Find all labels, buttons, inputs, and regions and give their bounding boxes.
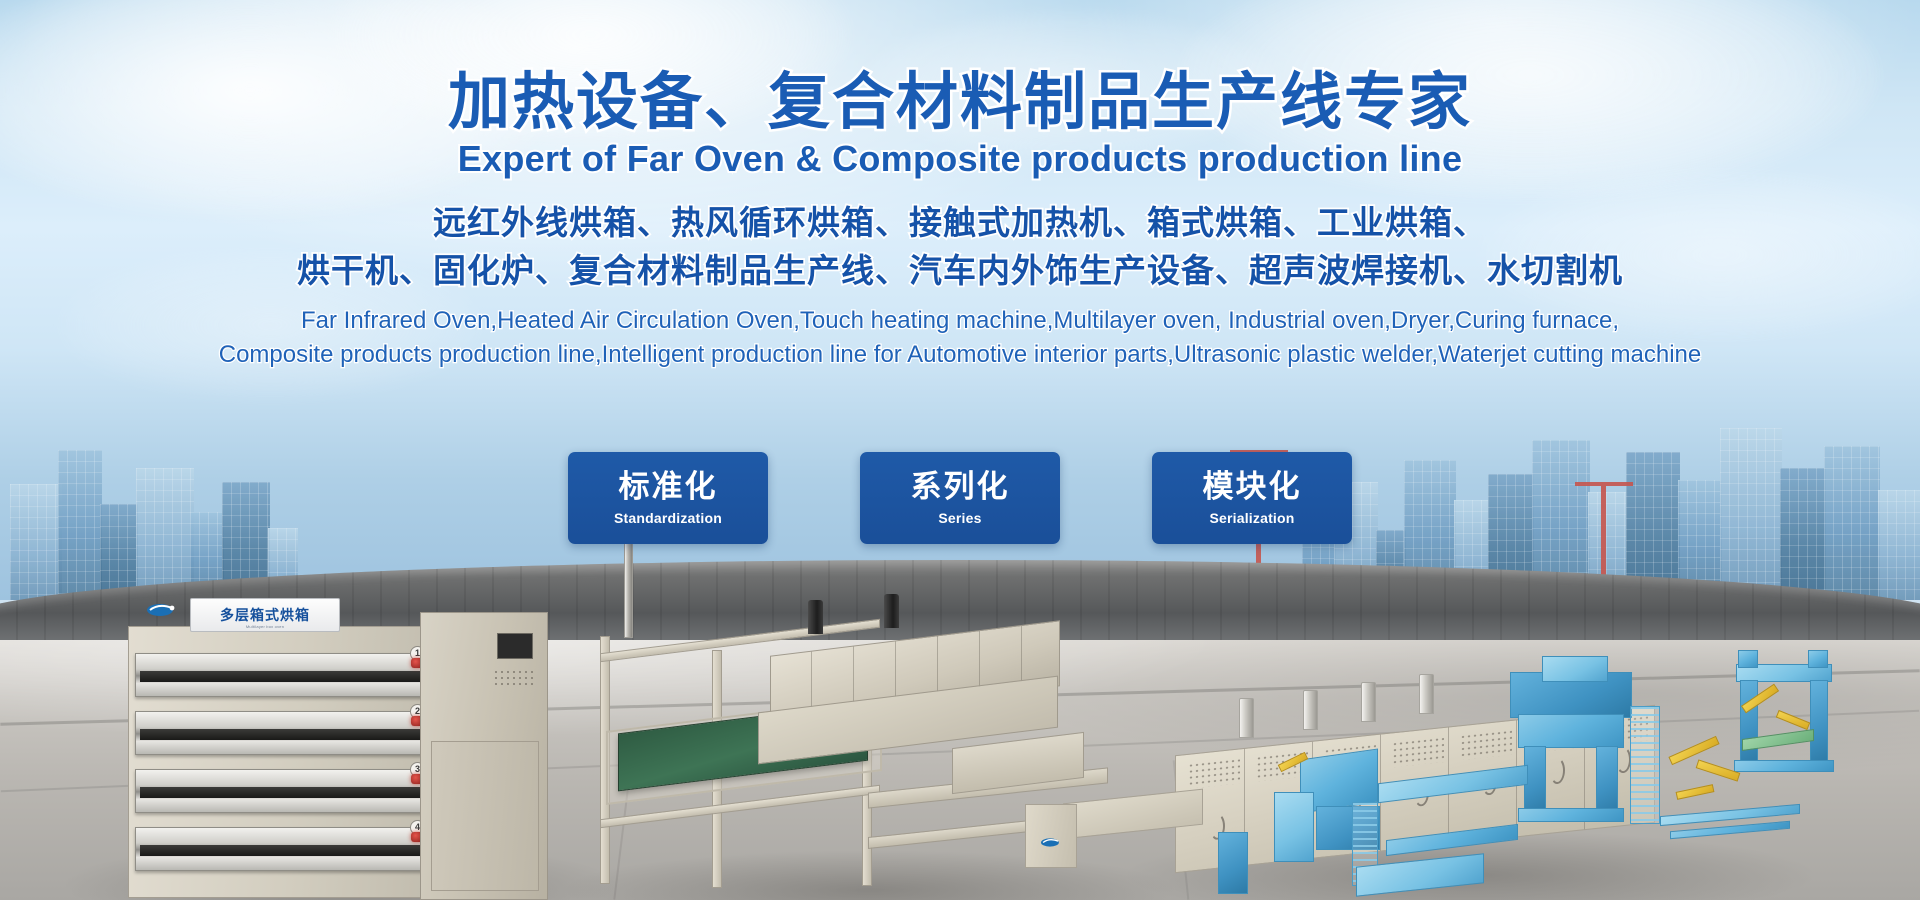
oven-tray (135, 711, 435, 755)
badge-standardization[interactable]: 标准化 Standardization (568, 452, 768, 544)
gantry-base (1734, 760, 1834, 772)
machine-multilayer-oven: 多层箱式烘箱 Multilayer box oven 1 2 3 4 (128, 612, 548, 900)
robot-arm (1676, 784, 1715, 800)
banner-subtitle-zh-line2: 烘干机、固化炉、复合材料制品生产线、汽车内外饰生产设备、超声波焊接机、水切割机 (0, 247, 1920, 295)
banner-subtitle-en-line1: Far Infrared Oven,Heated Air Circulation… (0, 304, 1920, 338)
exhaust-stack (1361, 682, 1376, 722)
badge-label-zh: 系列化 (911, 470, 1010, 505)
oven-nameplate-en: Multilayer box oven (246, 624, 284, 629)
transfer-rail (1378, 765, 1528, 803)
badge-series[interactable]: 系列化 Series (860, 452, 1060, 544)
gantry-post (1808, 650, 1828, 668)
badge-label-en: Serialization (1209, 510, 1294, 526)
press-leg (1596, 746, 1618, 814)
machine-blue-handling-unit (1260, 740, 1580, 900)
exhaust-stack (1303, 690, 1318, 730)
oven-tray (135, 827, 435, 871)
press-piston (884, 594, 899, 628)
robot-arm (1668, 736, 1719, 765)
banner-title-zh: 加热设备、复合材料制品生产线专家 (0, 70, 1920, 135)
transfer-rail (1386, 824, 1518, 856)
banner-title-en: Expert of Far Oven & Composite products … (0, 139, 1920, 179)
badge-label-en: Standardization (614, 510, 722, 526)
feature-badge-row: 标准化 Standardization 系列化 Series 模块化 Seria… (0, 452, 1920, 544)
badge-serialization[interactable]: 模块化 Serialization (1152, 452, 1352, 544)
oven-tray (135, 769, 435, 813)
oven-body (128, 626, 440, 898)
gantry-leg (1740, 680, 1758, 764)
badge-label-zh: 模块化 (1203, 470, 1302, 505)
brand-logo-icon (1040, 835, 1064, 853)
badge-label-zh: 标准化 (619, 470, 718, 505)
press-piston (808, 600, 823, 634)
cabinet-door (431, 741, 539, 891)
banner-subtitle-en-line2: Composite products production line,Intel… (0, 338, 1920, 372)
access-ladder (1630, 706, 1660, 824)
oven-nameplate: 多层箱式烘箱 Multilayer box oven (190, 598, 340, 632)
gantry-leg (1810, 680, 1828, 764)
control-screen (497, 633, 533, 659)
brand-logo-icon (146, 602, 180, 618)
badge-label-en: Series (938, 510, 981, 526)
oven-tray (135, 653, 435, 697)
side-panel (1218, 832, 1248, 894)
handler-column (1274, 792, 1314, 862)
robot-arm (1776, 710, 1811, 730)
oven-control-cabinet (420, 612, 548, 900)
exhaust-stack (1239, 698, 1254, 738)
exhaust-stack (1419, 674, 1434, 714)
banner-subtitle-zh-line1: 远红外线烘箱、热风循环烘箱、接触式加热机、箱式烘箱、工业烘箱、 (0, 199, 1920, 247)
gantry-post (1738, 650, 1758, 668)
oven-nameplate-zh: 多层箱式烘箱 (220, 608, 310, 622)
vent-grille (493, 669, 535, 689)
tunnel-control-cabinet (1025, 804, 1077, 868)
promotional-banner: 多层箱式烘箱 Multilayer box oven 1 2 3 4 (0, 0, 1920, 900)
press-cap (1542, 656, 1608, 682)
